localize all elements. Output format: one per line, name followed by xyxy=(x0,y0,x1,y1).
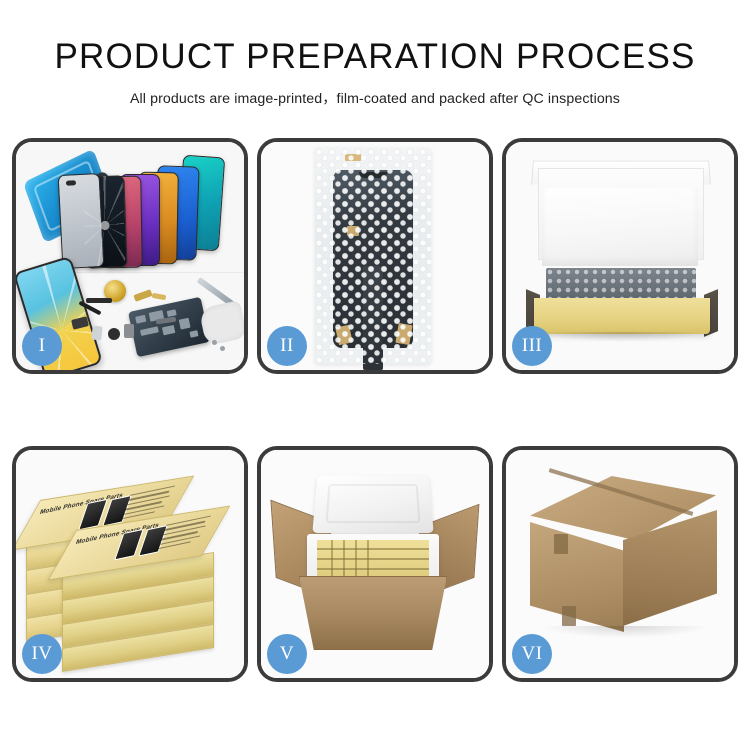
foam-lid-graphic xyxy=(312,475,433,533)
step-panel-5[interactable]: V xyxy=(257,446,493,682)
screw-part xyxy=(212,340,217,345)
step-panel-1[interactable]: I xyxy=(12,138,248,374)
header: PRODUCT PREPARATION PROCESS All products… xyxy=(0,0,750,108)
bubble-wrap-bag-graphic xyxy=(315,148,431,364)
page-title: PRODUCT PREPARATION PROCESS xyxy=(0,38,750,77)
step-badge-6: VI xyxy=(512,634,552,674)
carton-tape xyxy=(562,606,576,626)
step-badge-5: V xyxy=(267,634,307,674)
step-panel-6[interactable]: VI xyxy=(502,446,738,682)
phone-fan-graphic xyxy=(94,160,244,280)
foam-sheet-graphic xyxy=(542,188,698,266)
retail-box-stack-graphic: Mobile Phone Spare Parts Mobile Phone Sp… xyxy=(22,468,244,668)
carton-tape xyxy=(554,534,568,554)
step-panel-4[interactable]: Mobile Phone Spare Parts Mobile Phone Sp… xyxy=(12,446,248,682)
step-badge-4: IV xyxy=(22,634,62,674)
screw-part xyxy=(220,346,225,351)
kraft-box-front-graphic xyxy=(534,298,710,334)
product-preparation-infographic: PRODUCT PREPARATION PROCESS All products… xyxy=(0,0,750,750)
carton-front-graphic xyxy=(299,576,447,650)
spare-part xyxy=(124,324,134,338)
spare-part xyxy=(91,326,102,341)
spare-part xyxy=(86,298,112,303)
process-steps-grid: I II xyxy=(12,138,738,682)
step-badge-2: II xyxy=(267,326,307,366)
spare-part xyxy=(108,328,120,340)
step-panel-2[interactable]: II xyxy=(257,138,493,374)
page-subtitle: All products are image-printed，film-coat… xyxy=(0,88,750,108)
step-panel-3[interactable]: III xyxy=(502,138,738,374)
step-badge-3: III xyxy=(512,326,552,366)
step-badge-1: I xyxy=(22,326,62,366)
bubble-wrap-layer-graphic xyxy=(546,268,696,302)
